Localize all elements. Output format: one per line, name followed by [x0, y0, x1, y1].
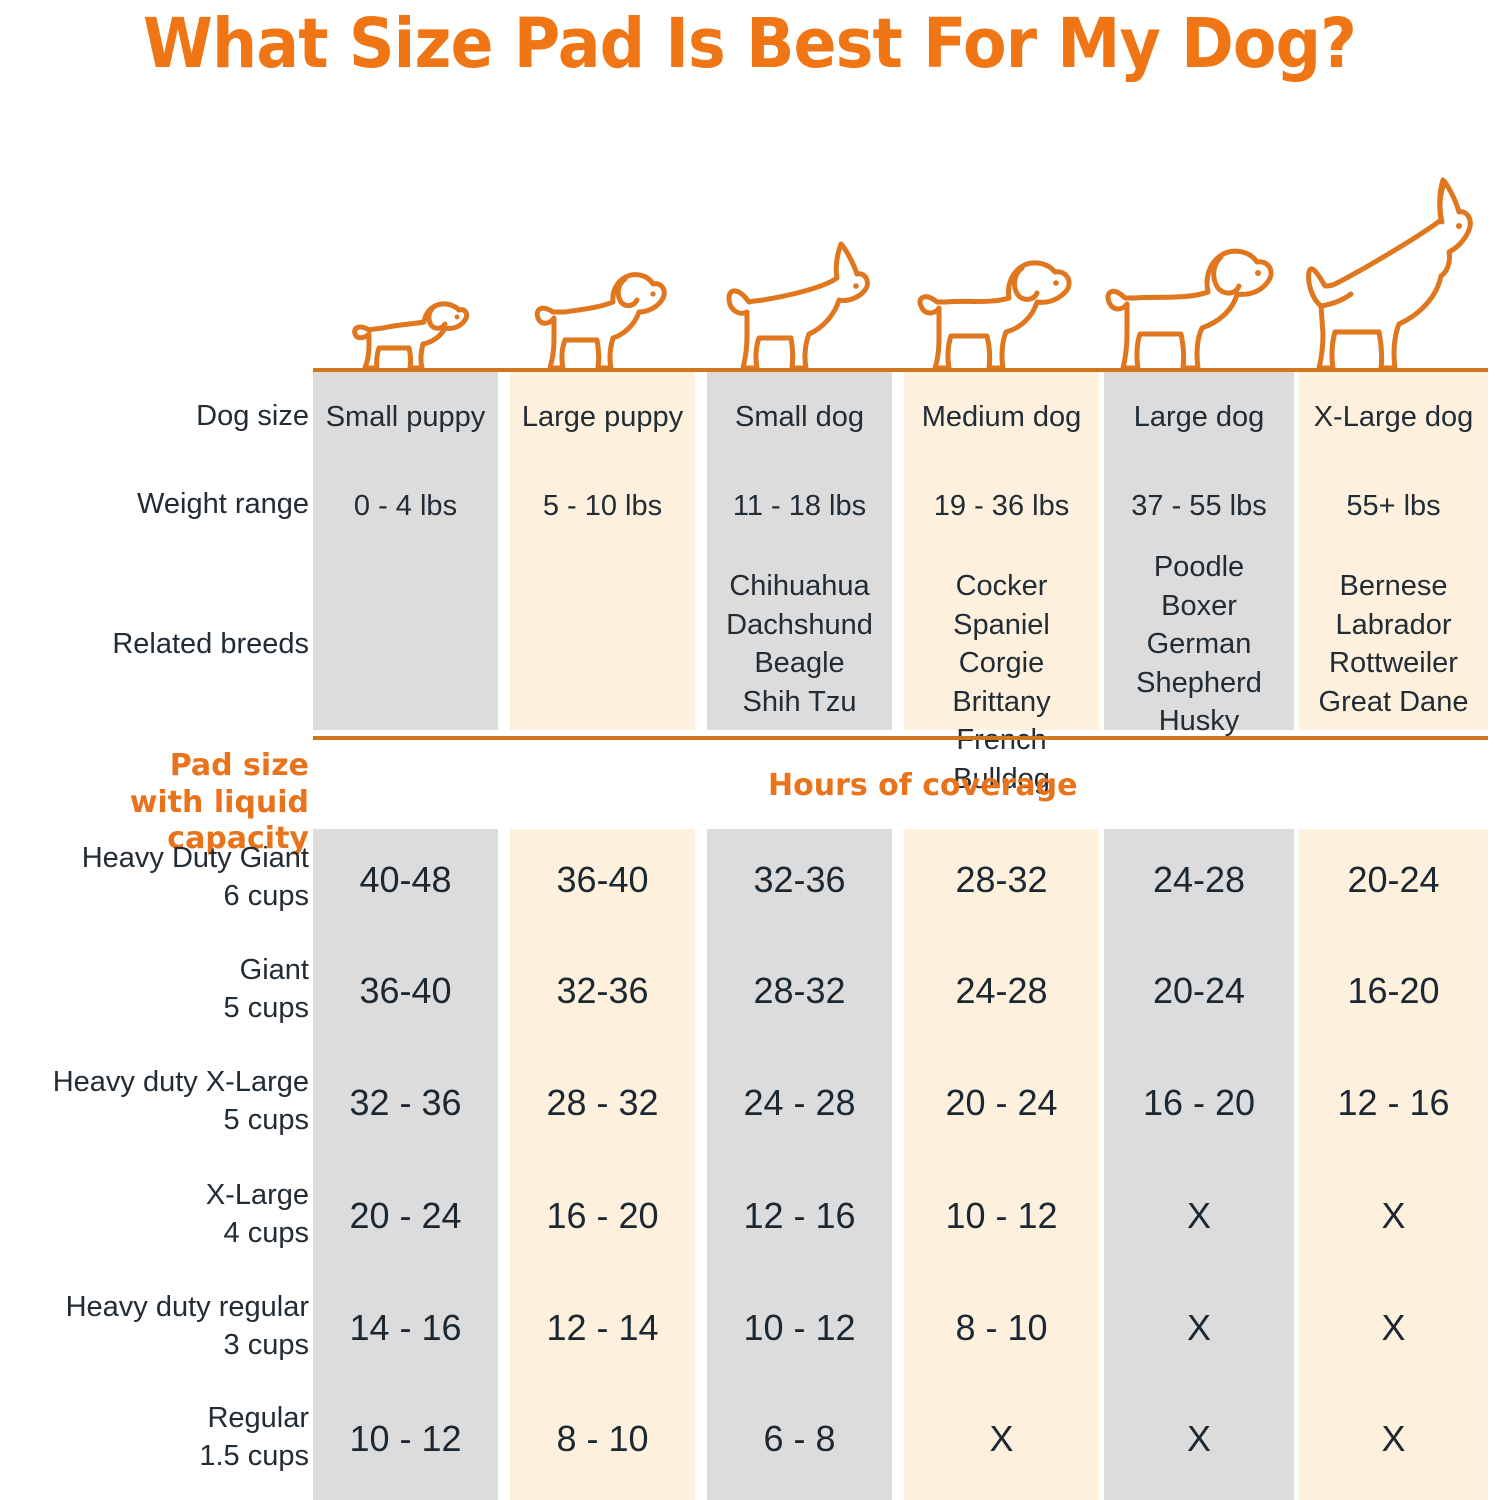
data-cell-r5c4: X: [1104, 1415, 1294, 1463]
data-cell-r3c0: 20 - 24: [313, 1192, 498, 1240]
data-cell-r1c0: 36-40: [313, 967, 498, 1015]
data-band-medium-dog: [904, 829, 1099, 1500]
data-cell-r2c5: 12 - 16: [1299, 1079, 1488, 1127]
cell-dog-size-large-puppy: Large puppy: [510, 398, 695, 437]
data-cell-r4c4: X: [1104, 1304, 1294, 1352]
data-cell-r3c1: 16 - 20: [510, 1192, 695, 1240]
data-cell-r4c0: 14 - 16: [313, 1304, 498, 1352]
small-puppy-dog-icon: [313, 284, 511, 372]
cell-dog-size-medium-dog: Medium dog: [904, 398, 1099, 437]
table-middle-rule: [313, 736, 1488, 740]
large-puppy-dog-icon: [509, 264, 707, 372]
cell-weight-small-puppy: 0 - 4 lbs: [313, 487, 498, 526]
cell-breeds-x-large-dog: Bernese Labrador Rottweiler Great Dane: [1299, 567, 1488, 721]
data-cell-r0c5: 20-24: [1299, 856, 1488, 904]
data-cell-r5c3: X: [904, 1415, 1099, 1463]
row-label-regular: Regular 1.5 cups: [199, 1400, 309, 1475]
data-cell-r4c5: X: [1299, 1304, 1488, 1352]
cell-weight-large-puppy: 5 - 10 lbs: [510, 487, 695, 526]
row-label-dog-size: Dog size: [196, 398, 309, 436]
data-cell-r0c2: 32-36: [707, 856, 892, 904]
data-band-small-dog: [707, 829, 892, 1500]
cell-weight-x-large-dog: 55+ lbs: [1299, 487, 1488, 526]
row-label-x-large: X-Large 4 cups: [206, 1177, 309, 1252]
cell-weight-small-dog: 11 - 18 lbs: [707, 487, 892, 526]
small-dog-icon: [705, 240, 903, 372]
data-cell-r2c4: 16 - 20: [1104, 1079, 1294, 1127]
data-cell-r0c4: 24-28: [1104, 856, 1294, 904]
data-cell-r1c2: 28-32: [707, 967, 892, 1015]
cell-dog-size-large-dog: Large dog: [1104, 398, 1294, 437]
data-cell-r2c1: 28 - 32: [510, 1079, 695, 1127]
data-cell-r2c2: 24 - 28: [707, 1079, 892, 1127]
cell-dog-size-small-dog: Small dog: [707, 398, 892, 437]
data-cell-r2c3: 20 - 24: [904, 1079, 1099, 1127]
dog-size-illustration-strip: [313, 160, 1488, 372]
data-cell-r1c3: 24-28: [904, 967, 1099, 1015]
row-label-heavy-duty-x-large: Heavy duty X-Large 5 cups: [53, 1064, 309, 1139]
cell-dog-size-x-large-dog: X-Large dog: [1299, 398, 1488, 437]
data-band-small-puppy: [313, 829, 498, 1500]
cell-breeds-medium-dog: Cocker Spaniel Corgie Brittany French Bu…: [904, 567, 1099, 798]
cell-dog-size-small-puppy: Small puppy: [313, 398, 498, 437]
row-label-weight-range: Weight range: [137, 486, 309, 524]
data-cell-r3c5: X: [1299, 1192, 1488, 1240]
data-cell-r3c2: 12 - 16: [707, 1192, 892, 1240]
cell-breeds-small-dog: Chihuahua Dachshund Beagle Shih Tzu: [707, 567, 892, 721]
data-band-large-puppy: [510, 829, 695, 1500]
data-cell-r1c4: 20-24: [1104, 967, 1294, 1015]
row-label-related-breeds: Related breeds: [112, 626, 309, 664]
page-title: What Size Pad Is Best For My Dog?: [60, 4, 1439, 84]
data-cell-r5c1: 8 - 10: [510, 1415, 695, 1463]
data-cell-r4c1: 12 - 14: [510, 1304, 695, 1352]
row-label-heavy-duty-giant: Heavy Duty Giant 6 cups: [82, 840, 309, 915]
data-cell-r5c5: X: [1299, 1415, 1488, 1463]
data-cell-r3c3: 10 - 12: [904, 1192, 1099, 1240]
cell-breeds-large-dog: Poodle Boxer German Shepherd Husky: [1104, 548, 1294, 741]
data-cell-r0c0: 40-48: [313, 856, 498, 904]
data-cell-r1c1: 32-36: [510, 967, 695, 1015]
row-label-giant: Giant 5 cups: [224, 952, 309, 1027]
data-cell-r4c3: 8 - 10: [904, 1304, 1099, 1352]
cell-weight-medium-dog: 19 - 36 lbs: [904, 487, 1099, 526]
cell-weight-large-dog: 37 - 55 lbs: [1104, 487, 1294, 526]
data-cell-r4c2: 10 - 12: [707, 1304, 892, 1352]
data-cell-r1c5: 16-20: [1299, 967, 1488, 1015]
medium-dog-icon: [901, 250, 1099, 372]
data-band-x-large-dog: [1299, 829, 1488, 1500]
data-cell-r5c2: 6 - 8: [707, 1415, 892, 1463]
data-band-large-dog: [1104, 829, 1294, 1500]
hours-of-coverage-header: Hours of coverage: [768, 768, 1077, 805]
data-cell-r0c3: 28-32: [904, 856, 1099, 904]
row-label-heavy-duty-regular: Heavy duty regular 3 cups: [66, 1289, 309, 1364]
data-cell-r5c0: 10 - 12: [313, 1415, 498, 1463]
data-cell-r2c0: 32 - 36: [313, 1079, 498, 1127]
large-dog-icon: [1097, 242, 1295, 372]
data-cell-r3c4: X: [1104, 1192, 1294, 1240]
data-cell-r0c1: 36-40: [510, 856, 695, 904]
x-large-dog-icon: [1293, 176, 1491, 372]
